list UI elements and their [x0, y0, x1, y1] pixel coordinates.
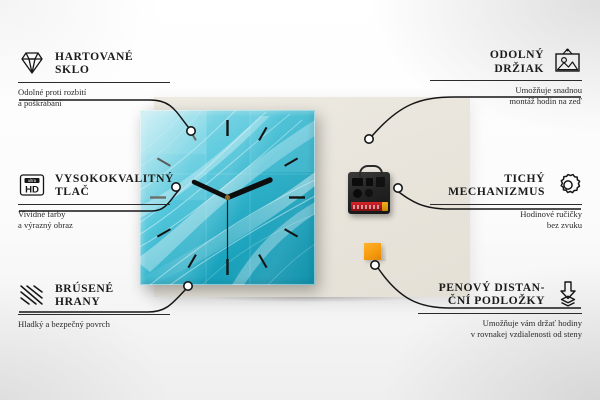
framed-picture-icon — [553, 48, 582, 75]
press-down-layers-icon — [554, 280, 582, 308]
gear-icon — [554, 172, 582, 198]
diamond-icon — [18, 50, 46, 76]
connector-dot-hardened-glass — [187, 127, 195, 135]
svg-text:ultra: ultra — [28, 179, 37, 184]
feature-title: HARTOVANÉ SKLO — [55, 50, 133, 77]
feature-description: Hodinové ručičky bez zvuku — [430, 209, 582, 231]
feature-description: Odolné proti rozbití a poškrábání — [18, 87, 170, 109]
feature-divider — [18, 314, 170, 315]
feature-title: TICHÝ MECHANIZMUS — [448, 172, 545, 199]
ultra-hd-icon: ultra HD — [18, 173, 46, 197]
feature-divider — [18, 204, 170, 205]
connector-dot-hanger — [365, 135, 373, 143]
feature-polished-edges: BRÚSENÉ HRANY Hladký a bezpečný povrch — [18, 282, 170, 330]
infographic-canvas: HARTOVANÉ SKLO Odolné proti rozbití a po… — [0, 0, 600, 400]
feature-silent-mechanism: TICHÝ MECHANIZMUS Hodinové ručičky bez z… — [430, 172, 582, 231]
feature-foam-spacers: PENOVÝ DISTAN- ČNÍ PODLOŽKY Umožňuje vám… — [418, 280, 582, 340]
feature-durable-hanger: ODOLNÝ DRŽIAK Umožňuje snadnou montáž ho… — [430, 48, 582, 107]
feature-title: ODOLNÝ DRŽIAK — [490, 48, 544, 75]
feature-divider — [418, 313, 582, 314]
feature-description: Umožňuje vám držať hodiny v rovnakej vzd… — [418, 318, 582, 340]
feature-description: Vividné farby a výrazný obraz — [18, 209, 170, 231]
feature-divider — [430, 204, 582, 205]
feature-description: Umožňuje snadnou montáž hodin na zeď — [430, 85, 582, 107]
feature-divider — [18, 82, 170, 83]
connector-dot-spacers — [371, 261, 379, 269]
feature-title: BRÚSENÉ HRANY — [55, 282, 114, 309]
feature-title: PENOVÝ DISTAN- ČNÍ PODLOŽKY — [439, 281, 545, 308]
feature-description: Hladký a bezpečný povrch — [18, 319, 170, 330]
connector-dot-mechanism — [394, 184, 402, 192]
connector-dot-edges — [184, 282, 192, 290]
hatch-lines-icon — [18, 283, 46, 307]
feature-high-quality-print: ultra HD VYSOKOKVALITNÝ TLAČ Vividné far… — [18, 172, 170, 231]
svg-text:HD: HD — [25, 185, 39, 196]
feature-title: VYSOKOKVALITNÝ TLAČ — [55, 172, 174, 199]
feature-hardened-glass: HARTOVANÉ SKLO Odolné proti rozbití a po… — [18, 50, 170, 109]
feature-divider — [430, 80, 582, 81]
